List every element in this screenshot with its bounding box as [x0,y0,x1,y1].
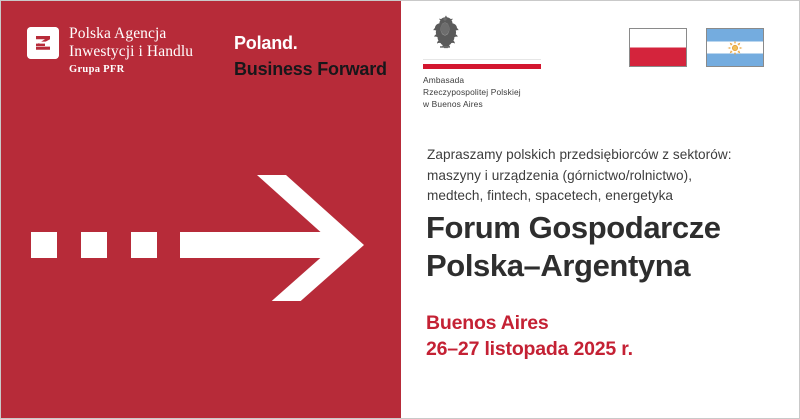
intro-line-3: medtech, fintech, spacetech, energetyka [427,186,732,207]
title-line-2: Polska–Argentyna [426,247,721,285]
page-title: Forum Gospodarcze Polska–Argentyna [426,209,721,285]
slogan-line-1: Poland. [234,32,387,55]
intro-paragraph: Zapraszamy polskich przedsiębiorców z se… [427,145,732,207]
arrow-dot-3 [131,232,157,258]
flag-argentina [706,28,764,67]
arrow-dot-1 [31,232,57,258]
brand-slogan: Poland. Business Forward [234,32,387,81]
arrow-shaft [180,232,340,258]
event-location: Buenos Aires [426,311,633,337]
slogan-line-2: Business Forward [234,58,387,81]
embassy-identity: Ambasada Rzeczypospolitej Polskiej w Bue… [423,13,573,111]
title-line-1: Forum Gospodarcze [426,209,721,247]
embassy-line-1: Ambasada [423,75,573,87]
intro-line-2: maszyny i urządzenia (górnictwo/rolnictw… [427,166,732,187]
paih-logo: Polska Agencja Inwestycji i Handlu Grupa… [27,25,193,76]
paih-logo-text: Polska Agencja Inwestycji i Handlu Grupa… [69,25,193,76]
flag-poland [629,28,687,67]
polish-flag-bar [423,59,541,69]
paih-subline: Grupa PFR [69,64,193,76]
paih-mark-icon [27,27,59,59]
arrow-dot-2 [81,232,107,258]
intro-line-1: Zapraszamy polskich przedsiębiorców z se… [427,145,732,166]
embassy-line-3: w Buenos Aires [423,99,573,111]
event-details: Buenos Aires 26–27 listopada 2025 r. [426,311,633,363]
embassy-text: Ambasada Rzeczypospolitej Polskiej w Bue… [423,75,573,111]
event-dates: 26–27 listopada 2025 r. [426,337,633,363]
right-white-panel: Ambasada Rzeczypospolitej Polskiej w Bue… [401,1,799,418]
paih-line-2: Inwestycji i Handlu [69,43,193,61]
embassy-line-2: Rzeczypospolitej Polskiej [423,87,573,99]
right-arrow-graphic [1,161,401,301]
sun-of-may-icon [728,40,743,55]
left-red-panel: Polska Agencja Inwestycji i Handlu Grupa… [1,1,401,419]
event-poster: Polska Agencja Inwestycji i Handlu Grupa… [0,0,800,419]
flags-row [629,28,764,67]
polish-eagle-emblem [427,13,463,53]
paih-line-1: Polska Agencja [69,25,193,43]
